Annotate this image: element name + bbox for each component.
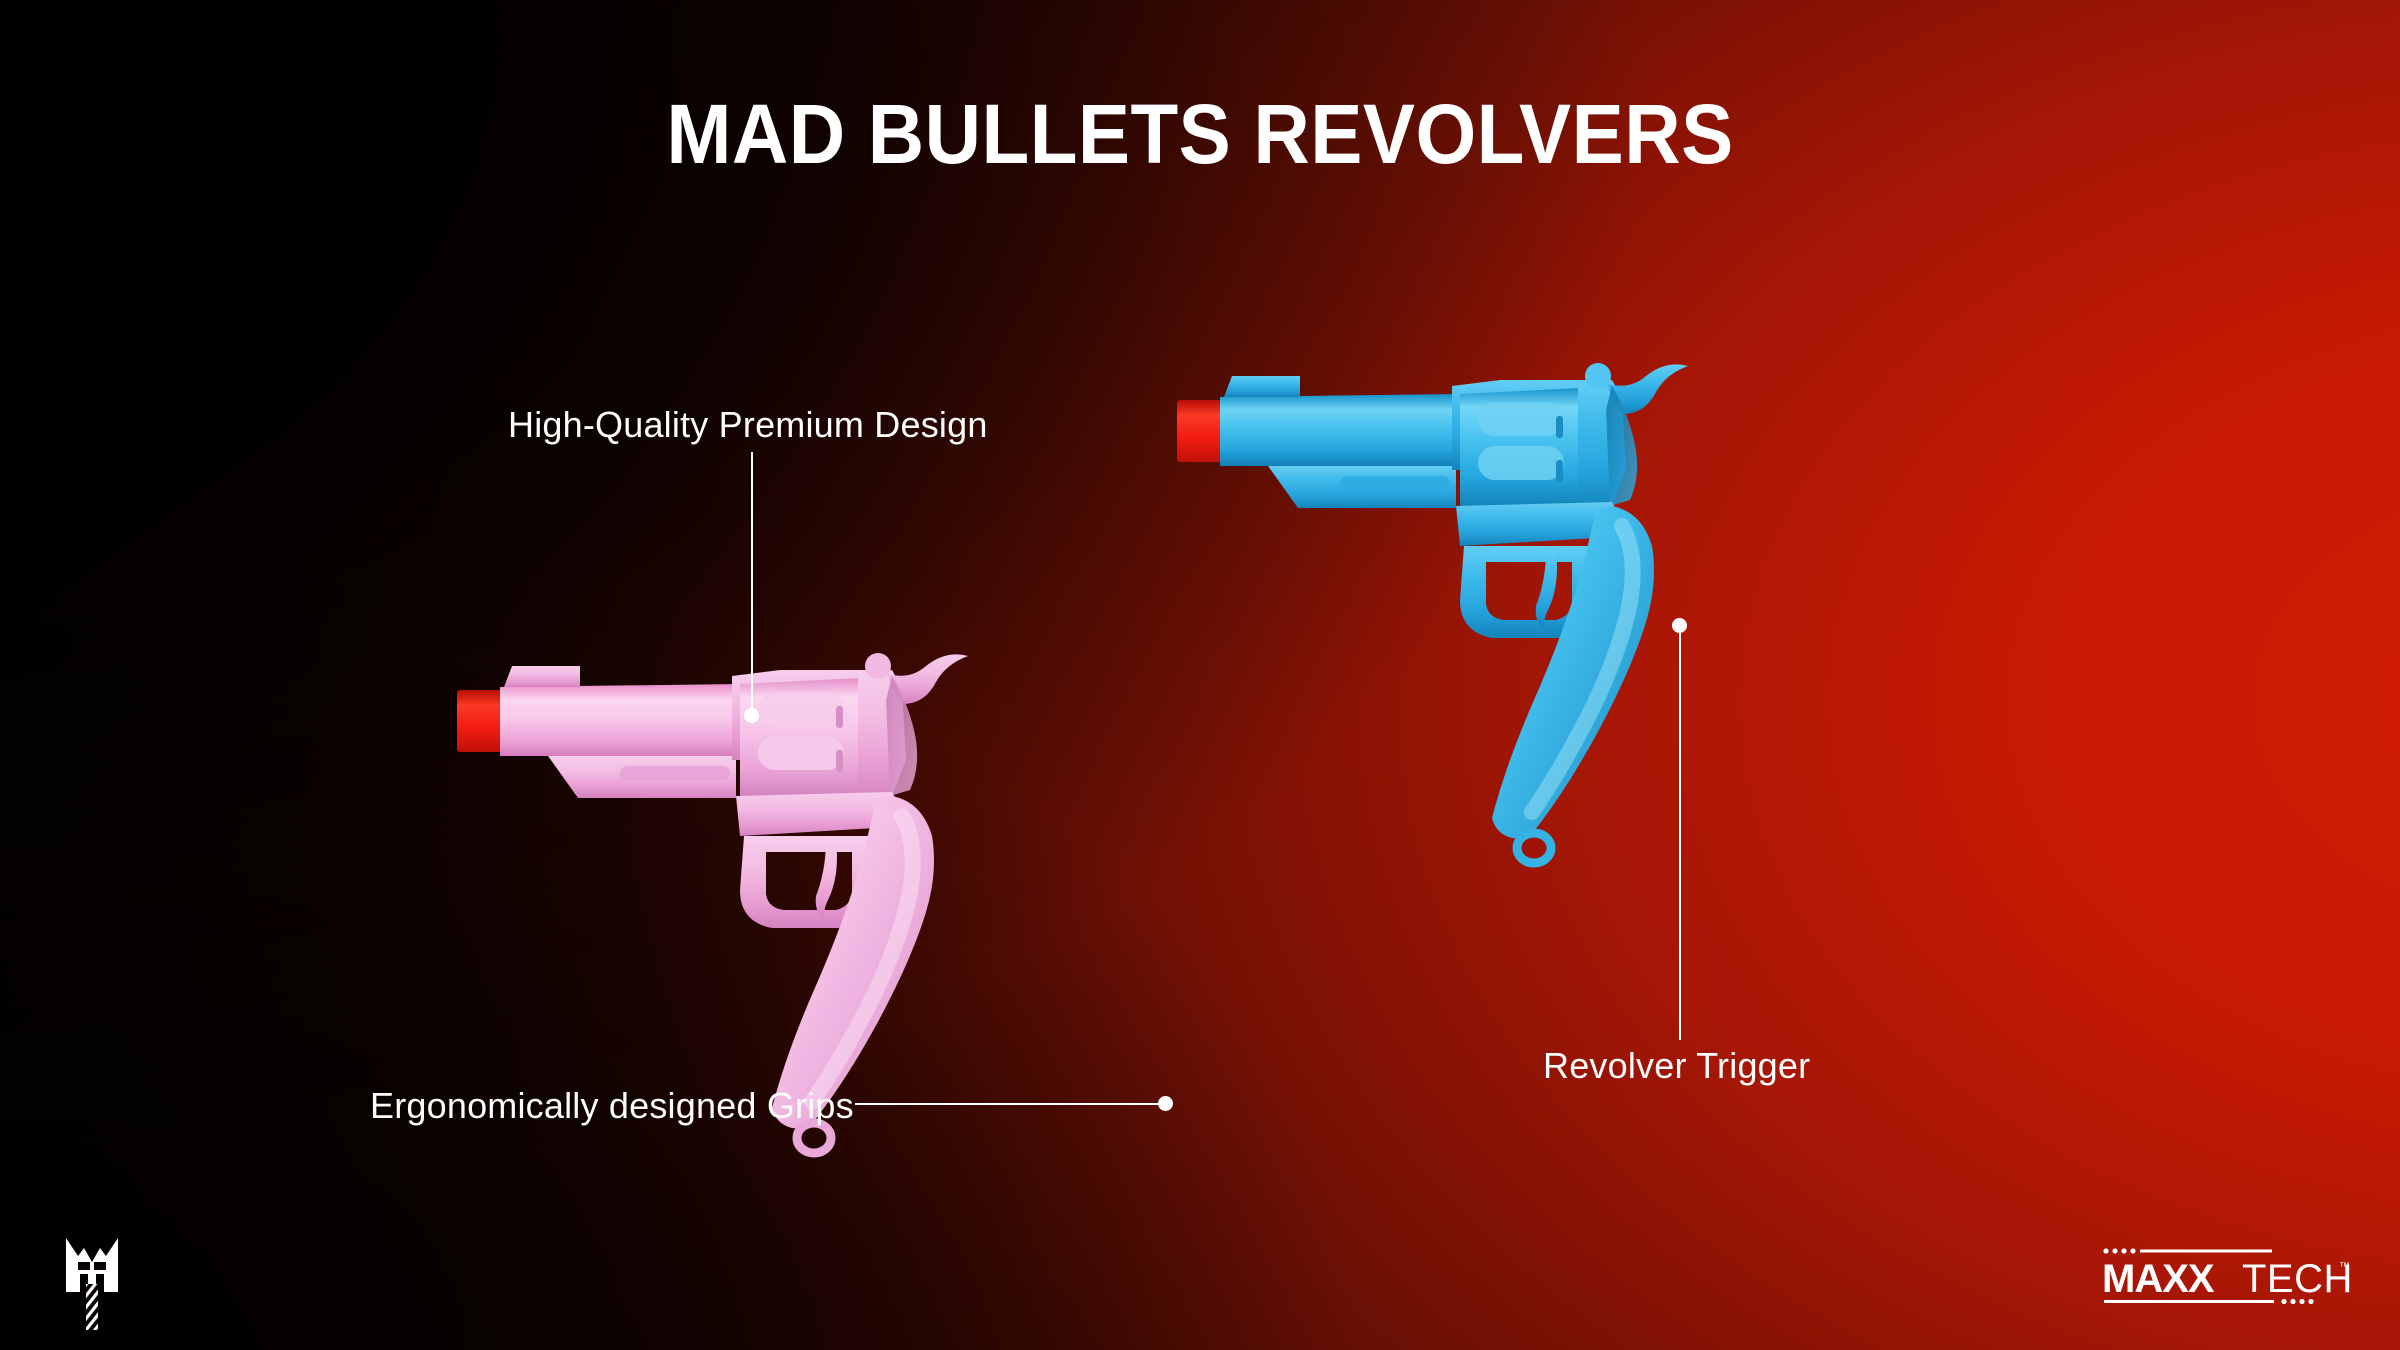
m-logo-body	[66, 1238, 118, 1292]
infographic-canvas: MAD BULLETS REVOLVERS	[0, 0, 2400, 1350]
blue-lanyard-ring	[1517, 833, 1551, 863]
page-title: MAD BULLETS REVOLVERS	[84, 86, 2316, 183]
maxx-m-logo-icon	[44, 1222, 140, 1334]
pink-barrel	[500, 684, 740, 756]
maxxtech-wordmark-secondary: TECH	[2242, 1257, 2353, 1301]
maxxtech-top-rule	[2140, 1250, 2272, 1253]
m-logo-stem	[86, 1284, 98, 1330]
pink-muzzle-tip	[457, 690, 504, 752]
blue-front-sight	[1224, 376, 1300, 397]
callout-leader-line-grips	[855, 1103, 1165, 1105]
callout-leader-line-trigger	[1679, 628, 1681, 1040]
callout-leader-line-premium	[751, 452, 753, 714]
callout-leader-dot-trigger	[1672, 618, 1687, 633]
callout-leader-dot-premium	[744, 708, 759, 723]
maxxtech-wordmark-primary: MAXX	[2102, 1257, 2215, 1301]
blue-muzzle-tip	[1177, 400, 1224, 462]
callout-leader-dot-grips	[1158, 1096, 1173, 1111]
maxxtech-bottom-rule	[2104, 1300, 2274, 1303]
blue-hammer-knob	[1585, 363, 1611, 389]
maxxtech-top-dots	[2103, 1248, 2135, 1253]
callout-label-premium: High-Quality Premium Design	[508, 404, 988, 446]
blue-barrel	[1220, 394, 1460, 466]
callout-label-trigger: Revolver Trigger	[1543, 1045, 1810, 1087]
pink-front-sight	[504, 666, 580, 687]
pink-lanyard-ring	[797, 1123, 831, 1153]
callout-label-grips: Ergonomically designed Grips	[370, 1085, 854, 1127]
maxxtech-trademark: ™	[2339, 1261, 2350, 1273]
blue-revolver-illustration	[1160, 350, 1970, 880]
pink-hammer-knob	[865, 653, 891, 679]
pink-ejector-groove	[620, 766, 730, 780]
blue-ejector-groove	[1340, 476, 1450, 490]
maxxtech-logo: MAXX TECH ™	[2096, 1240, 2356, 1312]
